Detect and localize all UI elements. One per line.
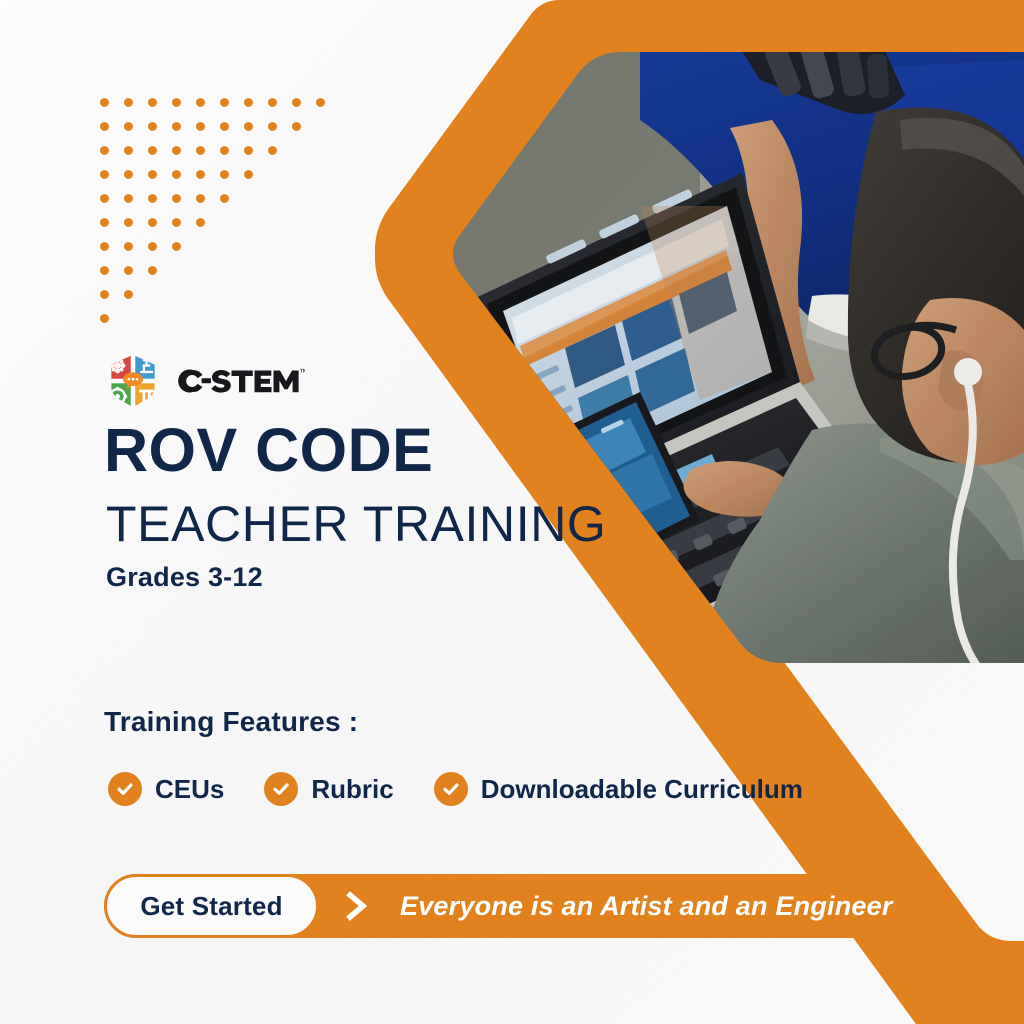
- decorative-dot: [124, 242, 133, 251]
- decorative-dot: [172, 242, 181, 251]
- decorative-dot: [316, 98, 325, 107]
- decorative-dot: [172, 98, 181, 107]
- c-stem-wordmark-text: ™: [175, 363, 305, 399]
- decorative-dot: [148, 146, 157, 155]
- feature-label: Downloadable Curriculum: [481, 774, 803, 805]
- decorative-dot: [100, 98, 109, 107]
- decorative-dot: [196, 122, 205, 131]
- feature-label: Rubric: [311, 774, 393, 805]
- cta-tagline: Everyone is an Artist and an Engineer: [400, 874, 893, 938]
- math-pi-quadrant: [133, 381, 162, 410]
- get-started-button[interactable]: Get Started: [104, 874, 319, 938]
- decorative-dot: [100, 290, 109, 299]
- decorative-dot: [292, 122, 301, 131]
- decorative-dot: [196, 218, 205, 227]
- decorative-dot: [268, 122, 277, 131]
- c-stem-wordmark: ™: [175, 363, 305, 399]
- features-list: CEUs Rubric Downloadable Curriculum: [108, 772, 803, 806]
- decorative-dot: [100, 146, 109, 155]
- decorative-dot: [196, 194, 205, 203]
- promo-poster: ™ ROV CODE TEACHER TRAINING Grades 3-12 …: [0, 0, 1024, 1024]
- decorative-dot: [124, 98, 133, 107]
- decorative-dot: [172, 170, 181, 179]
- c-stem-shield-icon: [104, 352, 162, 410]
- check-circle-icon: [434, 772, 468, 806]
- feature-label: CEUs: [155, 774, 224, 805]
- feature-item-rubric: Rubric: [264, 772, 393, 806]
- decorative-dot: [124, 146, 133, 155]
- decorative-dot: [244, 146, 253, 155]
- feature-item-downloadable-curriculum: Downloadable Curriculum: [434, 772, 803, 806]
- decorative-dot: [196, 146, 205, 155]
- get-started-button-label: Get Started: [140, 891, 282, 922]
- decorative-dot: [220, 122, 229, 131]
- chevron-right-icon: [340, 890, 372, 922]
- decorative-dot: [124, 122, 133, 131]
- decorative-dot: [292, 98, 301, 107]
- decorative-dot: [220, 170, 229, 179]
- decorative-dot: [100, 218, 109, 227]
- decorative-dot: [100, 194, 109, 203]
- decorative-dot: [268, 146, 277, 155]
- decorative-dot: [148, 218, 157, 227]
- page-subtitle: TEACHER TRAINING: [106, 498, 606, 551]
- decorative-dot: [148, 194, 157, 203]
- trademark-symbol: ™: [299, 367, 305, 377]
- decorative-dot: [148, 170, 157, 179]
- decorative-dot: [244, 170, 253, 179]
- decorative-dot: [124, 194, 133, 203]
- decorative-dot: [100, 122, 109, 131]
- decorative-dot: [100, 170, 109, 179]
- decorative-dot: [196, 98, 205, 107]
- decorative-dot: [268, 98, 277, 107]
- decorative-dot: [220, 146, 229, 155]
- decorative-dot: [148, 242, 157, 251]
- decorative-dot: [148, 266, 157, 275]
- triangular-dot-pattern: [100, 98, 340, 328]
- features-heading: Training Features :: [104, 706, 358, 738]
- decorative-dot: [124, 170, 133, 179]
- decorative-dot: [220, 194, 229, 203]
- decorative-dot: [124, 290, 133, 299]
- decorative-dot: [148, 98, 157, 107]
- decorative-dot: [124, 266, 133, 275]
- page-title: ROV CODE: [104, 418, 433, 482]
- decorative-dot: [172, 194, 181, 203]
- decorative-dot: [244, 122, 253, 131]
- check-circle-icon: [108, 772, 142, 806]
- brand-logo: ™: [104, 352, 305, 410]
- decorative-dot: [196, 170, 205, 179]
- decorative-dot: [172, 146, 181, 155]
- decorative-dot: [124, 218, 133, 227]
- decorative-dot: [172, 218, 181, 227]
- decorative-dot: [100, 314, 109, 323]
- feature-item-ceus: CEUs: [108, 772, 224, 806]
- decorative-dot: [172, 122, 181, 131]
- decorative-dot: [100, 242, 109, 251]
- grades-label: Grades 3-12: [106, 562, 263, 593]
- decorative-dot: [100, 266, 109, 275]
- decorative-dot: [220, 98, 229, 107]
- decorative-dot: [148, 122, 157, 131]
- cta-bar[interactable]: Everyone is an Artist and an Engineer Ge…: [104, 874, 920, 938]
- decorative-dot: [244, 98, 253, 107]
- check-circle-icon: [264, 772, 298, 806]
